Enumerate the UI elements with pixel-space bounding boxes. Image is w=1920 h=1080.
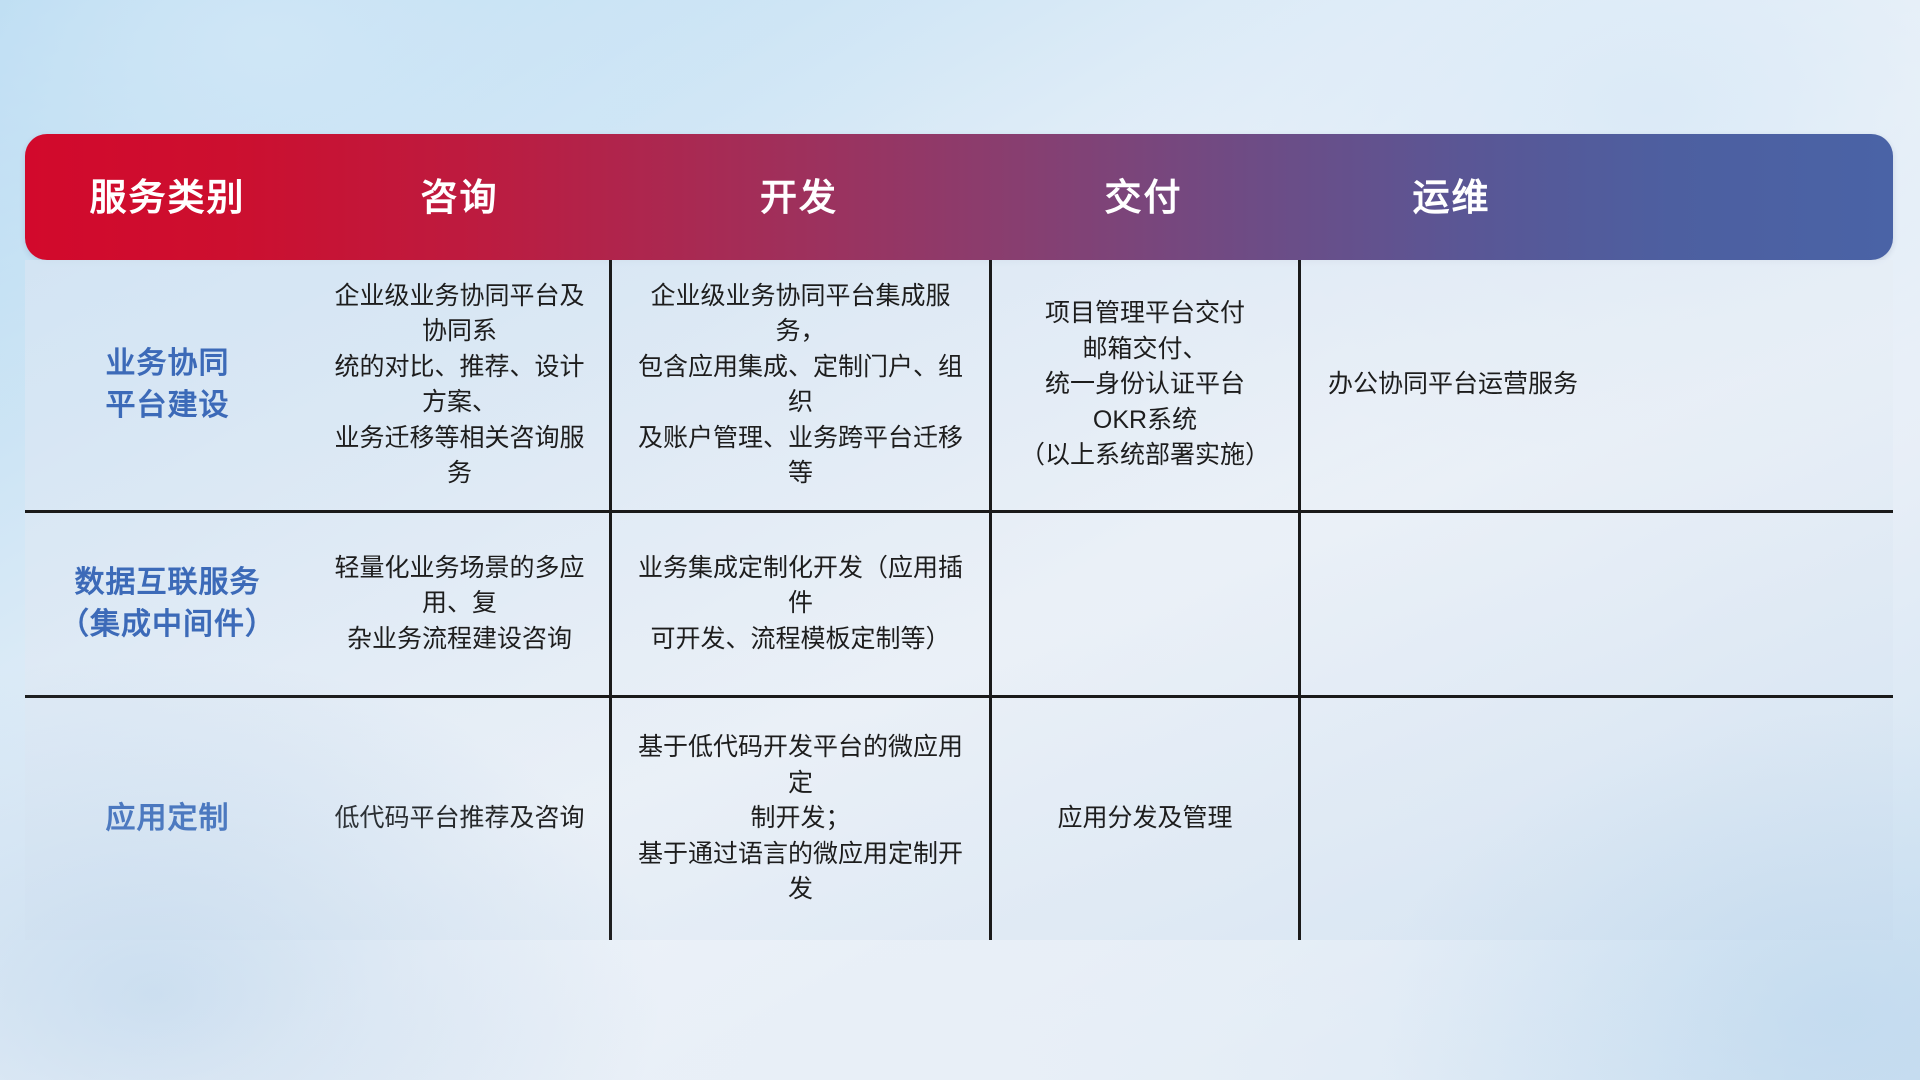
header-operations: 运维 xyxy=(1298,134,1605,260)
table-row: 应用定制 低代码平台推荐及咨询 基于低代码开发平台的微应用定 制开发； 基于通过… xyxy=(25,695,1893,940)
table-header-row: 服务类别 咨询 开发 交付 运维 xyxy=(25,134,1893,260)
row-label-business-collaboration: 业务协同 平台建设 xyxy=(25,260,310,510)
header-delivery: 交付 xyxy=(989,134,1298,260)
row-label-data-interconnect: 数据互联服务 （集成中间件） xyxy=(25,513,310,695)
header-consulting: 咨询 xyxy=(310,134,609,260)
table-row: 数据互联服务 （集成中间件） 轻量化业务场景的多应用、复 杂业务流程建设咨询 业… xyxy=(25,510,1893,695)
cell-operations-row1: 办公协同平台运营服务 xyxy=(1298,260,1605,510)
table-body: 业务协同 平台建设 企业级业务协同平台及协同系 统的对比、推荐、设计方案、 业务… xyxy=(25,260,1893,940)
cell-development-row2: 业务集成定制化开发（应用插件 可开发、流程模板定制等） xyxy=(609,513,989,695)
table-row: 业务协同 平台建设 企业级业务协同平台及协同系 统的对比、推荐、设计方案、 业务… xyxy=(25,260,1893,510)
cell-delivery-row2 xyxy=(989,513,1298,695)
cell-delivery-row1: 项目管理平台交付 邮箱交付、 统一身份认证平台 OKR系统 （以上系统部署实施） xyxy=(989,260,1298,510)
row-label-app-customization: 应用定制 xyxy=(25,698,310,940)
header-consulting-label: 咨询 xyxy=(421,179,499,216)
cell-delivery-row3: 应用分发及管理 xyxy=(989,698,1298,940)
cell-development-row3: 基于低代码开发平台的微应用定 制开发； 基于通过语言的微应用定制开发 xyxy=(609,698,989,940)
header-service-category: 服务类别 xyxy=(25,134,310,260)
cell-consulting-row3: 低代码平台推荐及咨询 xyxy=(310,698,609,940)
cell-development-row1: 企业级业务协同平台集成服务， 包含应用集成、定制门户、组织 及账户管理、业务跨平… xyxy=(609,260,989,510)
header-operations-label: 运维 xyxy=(1413,179,1491,216)
header-development: 开发 xyxy=(609,134,989,260)
service-matrix-table: 服务类别 咨询 开发 交付 运维 业务协同 平台建设 企业级业务协同平台及协同系… xyxy=(25,134,1893,958)
cell-consulting-row2: 轻量化业务场景的多应用、复 杂业务流程建设咨询 xyxy=(310,513,609,695)
cell-consulting-row1: 企业级业务协同平台及协同系 统的对比、推荐、设计方案、 业务迁移等相关咨询服务 xyxy=(310,260,609,510)
slide-canvas: 服务类别 咨询 开发 交付 运维 业务协同 平台建设 企业级业务协同平台及协同系… xyxy=(0,0,1920,1080)
cell-operations-row2 xyxy=(1298,513,1605,695)
header-service-category-label: 服务类别 xyxy=(90,179,246,216)
cell-operations-row3 xyxy=(1298,698,1605,940)
header-delivery-label: 交付 xyxy=(1105,179,1183,216)
header-development-label: 开发 xyxy=(760,179,838,216)
